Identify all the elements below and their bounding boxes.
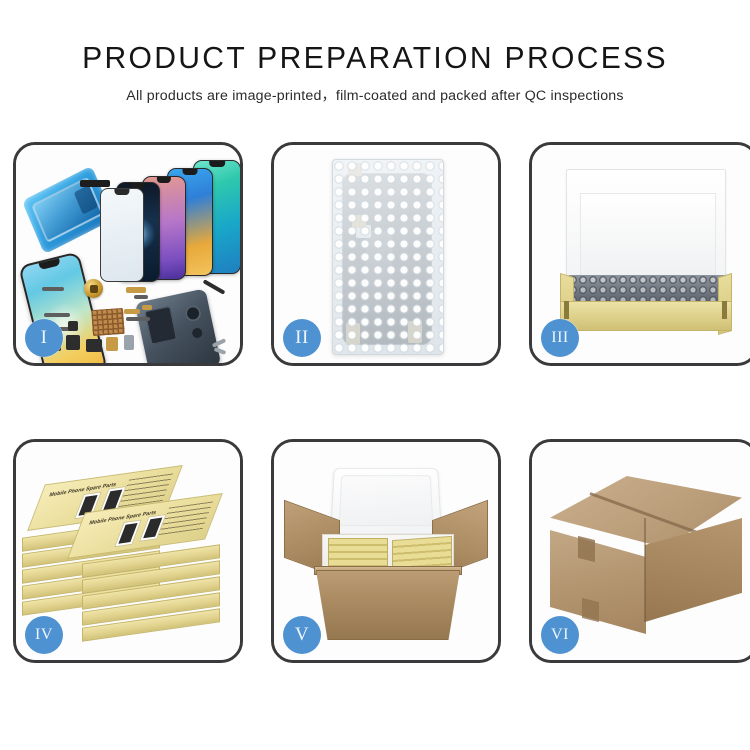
step-badge-4: IV (25, 616, 63, 654)
carton-front-panel (316, 570, 460, 640)
step-panel-4[interactable]: Mobile Phone Spare Parts Mobile Phone Sp… (13, 439, 243, 663)
infographic-page: PRODUCT PREPARATION PROCESS All products… (0, 0, 750, 750)
page-header: PRODUCT PREPARATION PROCESS All products… (0, 40, 750, 105)
carton-tape-patch-bottom (582, 598, 599, 622)
spare-part-camera-icon (86, 339, 102, 352)
foam-lid-icon (330, 468, 442, 535)
step-badge-5: V (283, 616, 321, 654)
spare-part-tweezers-icon (203, 279, 226, 294)
step-badge-2: II (283, 319, 321, 357)
spare-part-gold-3 (124, 309, 140, 314)
step-panel-3[interactable]: III (529, 142, 750, 366)
box-artwork-3 (114, 519, 142, 547)
step-panel-2[interactable]: II (271, 142, 501, 366)
box-notch-right (722, 301, 727, 319)
process-step-grid: I II (13, 142, 738, 663)
spare-part-gold-4 (106, 337, 118, 351)
screen-glass-panel-icon (100, 188, 144, 282)
spare-part-flex-1 (42, 287, 64, 291)
spare-part-flex-5 (126, 317, 150, 321)
box-notch-left (564, 301, 569, 319)
phone-backplate-icon (135, 288, 222, 366)
step-3-scene: III (532, 145, 750, 363)
step-panel-5[interactable]: V (271, 439, 501, 663)
page-subtitle: All products are image-printed，film-coat… (0, 85, 750, 105)
step-4-scene: Mobile Phone Spare Parts Mobile Phone Sp… (16, 442, 240, 660)
page-title: PRODUCT PREPARATION PROCESS (11, 40, 739, 76)
carton-vertical-edge (644, 518, 646, 622)
bubble-wrap-bag-icon (332, 159, 444, 355)
foam-sheet-icon (580, 193, 716, 277)
step-6-scene: VI (532, 442, 750, 660)
spare-part-gold-2 (142, 305, 152, 310)
spare-part-gold-1 (126, 287, 146, 293)
phone-screen-fan (100, 158, 243, 278)
step-badge-1: I (25, 319, 63, 357)
camera-ring-icon (84, 279, 103, 298)
step-2-scene: II (274, 145, 498, 363)
spare-part-chip-2 (68, 321, 78, 331)
connector-strip-icon (80, 180, 110, 187)
spare-part-sim-tray-icon (124, 335, 134, 350)
step-panel-1[interactable]: I (13, 142, 243, 366)
step-1-scene: I (16, 145, 240, 363)
grey-bubble-wrap-icon (568, 275, 728, 303)
step-panel-6[interactable]: VI (529, 439, 750, 663)
carton-tape-patch-top (578, 536, 595, 562)
step-5-scene: V (274, 442, 498, 660)
box-spec-lines-front (159, 501, 214, 535)
step-badge-3: III (541, 319, 579, 357)
spare-part-flex-3 (44, 313, 70, 317)
box-front-panel (560, 301, 732, 331)
copper-mesh-icon (91, 308, 125, 336)
step-badge-6: VI (541, 616, 579, 654)
spare-part-speaker-icon (66, 335, 80, 350)
spare-part-flex-2 (134, 295, 148, 299)
